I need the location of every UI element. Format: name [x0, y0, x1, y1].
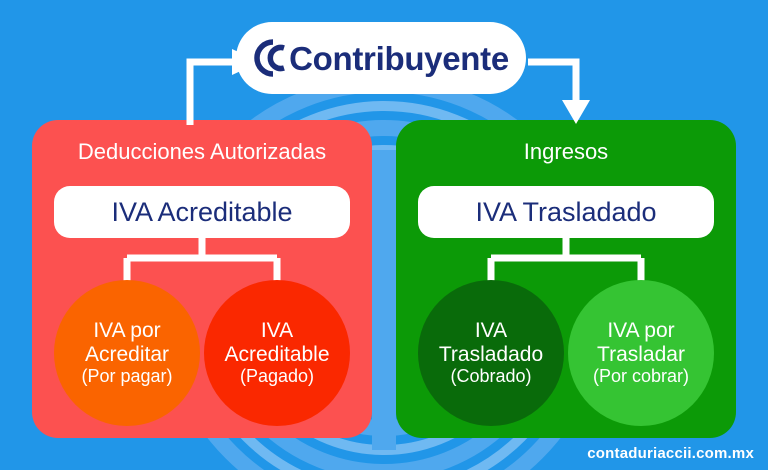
- node-line-1: IVA: [261, 319, 293, 343]
- node-line-1: IVA: [475, 319, 507, 343]
- node-sublabel: (Por pagar): [81, 366, 172, 386]
- panel-title-deducciones: Deducciones Autorizadas: [32, 140, 372, 164]
- node-line-2: Trasladado: [439, 343, 543, 367]
- node-iva-acreditable-pagado[interactable]: IVA Acreditable (Pagado): [204, 280, 350, 426]
- node-line-1: IVA por: [93, 319, 160, 343]
- box-label: IVA Acreditable: [111, 199, 292, 226]
- diagram-canvas: Contribuyente Deducciones Autorizadas IV…: [0, 0, 768, 470]
- node-line-2: Acreditar: [85, 343, 169, 367]
- title-pill: Contribuyente: [236, 22, 526, 94]
- panel-title-ingresos: Ingresos: [396, 140, 736, 164]
- node-iva-trasladado-cobrado[interactable]: IVA Trasladado (Cobrado): [418, 280, 564, 426]
- node-line-2: Acreditable: [224, 343, 329, 367]
- node-sublabel: (Por cobrar): [593, 366, 689, 386]
- box-label: IVA Trasladado: [475, 199, 656, 226]
- node-sublabel: (Cobrado): [450, 366, 531, 386]
- node-line-1: IVA por: [607, 319, 674, 343]
- double-c-logo-icon: [253, 38, 287, 78]
- node-iva-por-acreditar[interactable]: IVA por Acreditar (Por pagar): [54, 280, 200, 426]
- bracket-connector-right: [396, 238, 736, 284]
- arrow-right-down-icon: [528, 62, 590, 124]
- node-line-2: Trasladar: [597, 343, 685, 367]
- watermark-url: contaduriaccii.com.mx: [587, 445, 754, 462]
- panel-deducciones[interactable]: Deducciones Autorizadas IVA Acreditable …: [32, 120, 372, 438]
- page-title: Contribuyente: [289, 42, 509, 75]
- node-iva-por-trasladar[interactable]: IVA por Trasladar (Por cobrar): [568, 280, 714, 426]
- bracket-connector-left: [32, 238, 372, 284]
- box-iva-trasladado[interactable]: IVA Trasladado: [418, 186, 714, 238]
- box-iva-acreditable[interactable]: IVA Acreditable: [54, 186, 350, 238]
- node-sublabel: (Pagado): [240, 366, 314, 386]
- panel-ingresos[interactable]: Ingresos IVA Trasladado IVA Trasladado (…: [396, 120, 736, 438]
